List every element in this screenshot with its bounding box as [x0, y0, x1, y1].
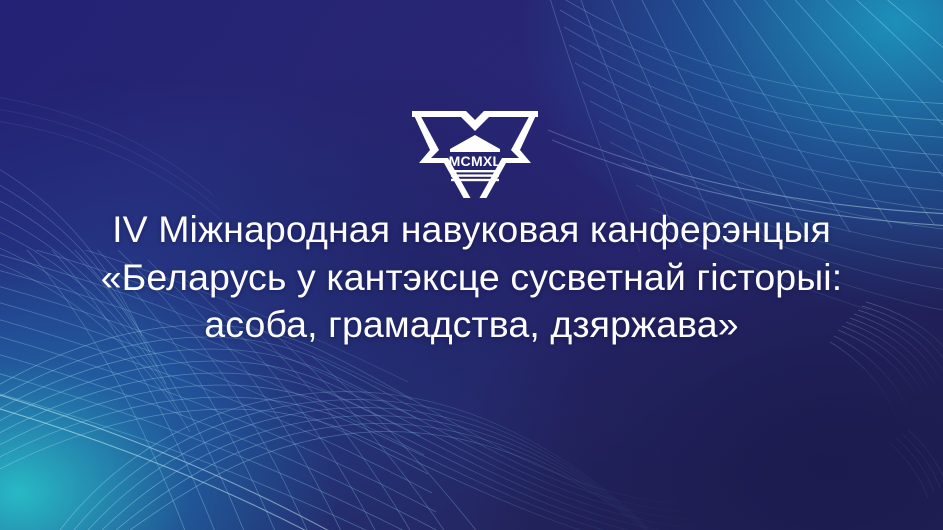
title-line-1: IV Міжнародная навуковая канферэнцыя	[0, 206, 943, 254]
conference-banner: MCMXL IV Міжнародная навуковая канферэнц…	[0, 0, 943, 530]
bsu-logo: MCMXL	[406, 106, 544, 198]
title-line-2: «Беларусь у кантэксце сусветнай гісторыі…	[0, 254, 943, 302]
title-line-3: асоба, грамадства, дзяржава»	[0, 301, 943, 349]
logo-inscription: MCMXL	[449, 153, 502, 169]
conference-title: IV Міжнародная навуковая канферэнцыя «Бе…	[0, 206, 943, 349]
